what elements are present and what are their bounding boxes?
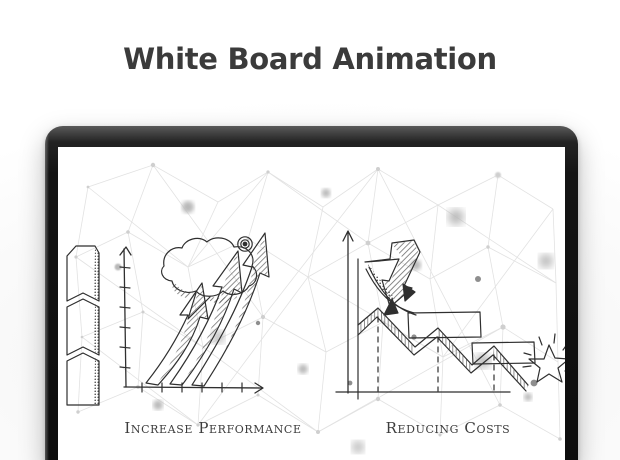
bezel-left-highlight	[45, 130, 49, 460]
star-burst	[523, 334, 565, 382]
descending-zigzag-ribbon	[358, 305, 528, 391]
bullseye-target	[238, 237, 252, 251]
caption-reducing-costs: Reducing Costs	[303, 419, 565, 437]
down-arrow-bolt	[365, 240, 420, 307]
laptop-mockup: Increase Performance Reducing Costs	[45, 126, 578, 460]
chevron-arrow-stack	[67, 246, 99, 405]
illustration-reducing-costs	[336, 231, 565, 399]
illustration-increase-performance	[67, 233, 269, 405]
whiteboard-illustrations	[58, 147, 565, 460]
page-title: White Board Animation	[0, 42, 620, 76]
bezel-gloss	[45, 126, 578, 142]
rising-arrow-1	[146, 283, 208, 385]
screenshot-canvas: White Board Animation	[0, 0, 620, 460]
thought-cloud	[162, 238, 257, 319]
device-screen: Increase Performance Reducing Costs	[58, 147, 565, 460]
